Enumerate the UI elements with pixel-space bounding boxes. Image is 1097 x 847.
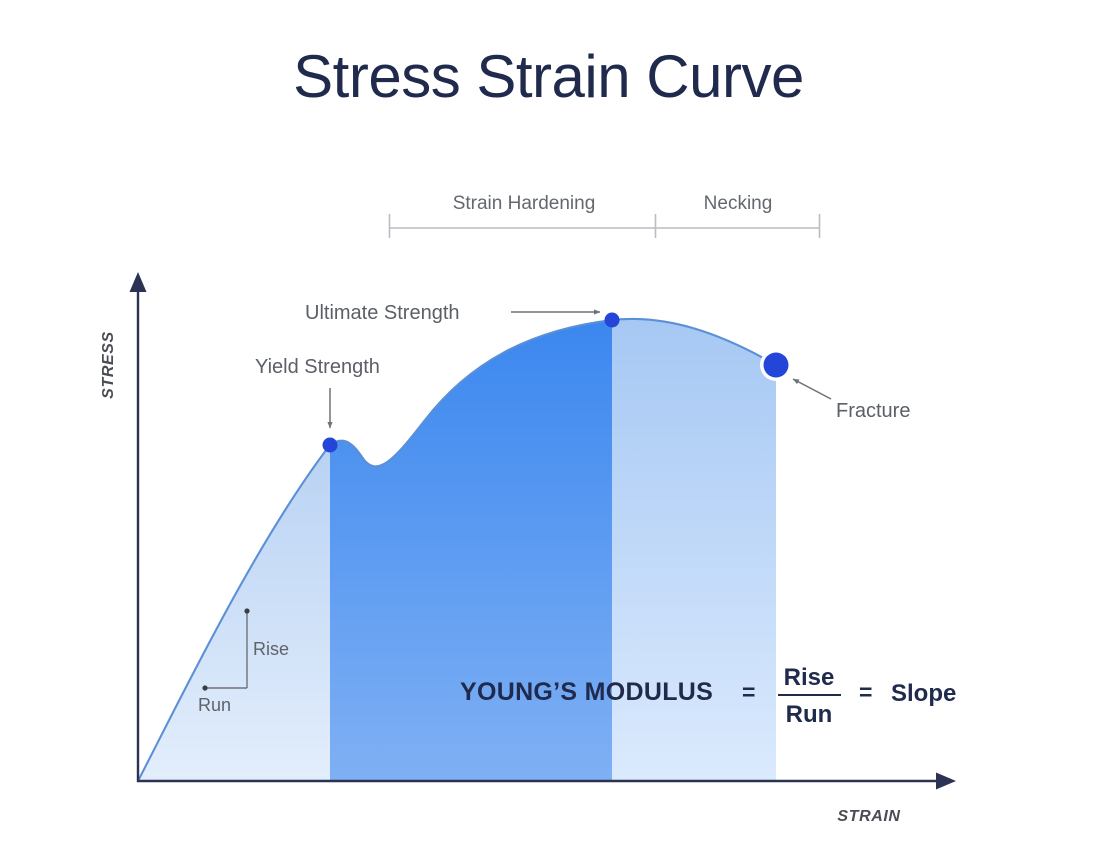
rise-top-point xyxy=(244,608,249,613)
formula-equals-first: = xyxy=(742,679,755,705)
formula-name: YOUNG’S MODULUS xyxy=(460,678,713,706)
run-left-point xyxy=(202,685,207,690)
fracture-label: Fracture xyxy=(836,400,910,422)
run-label: Run xyxy=(198,695,231,715)
x-axis-arrowhead xyxy=(936,773,956,790)
formula-equals-second: = xyxy=(859,679,872,705)
curve-fill-regions xyxy=(138,319,776,781)
annotation-ultimate-strength: Ultimate Strength xyxy=(305,302,600,324)
x-axis-label: STRAIN xyxy=(837,808,900,825)
region-label-strain-hardening: Strain Hardening xyxy=(453,193,596,214)
region-label-necking: Necking xyxy=(704,193,773,214)
ultimate-strength-marker[interactable] xyxy=(605,313,620,328)
fracture-leader-line xyxy=(793,379,831,399)
diagram-canvas: Stress Strain Curve xyxy=(0,0,1097,847)
stress-strain-figure: STRESS STRAIN Strain Hardening Necking U… xyxy=(0,0,1097,847)
ultimate-strength-label: Ultimate Strength xyxy=(305,302,460,324)
y-axis-label: STRESS xyxy=(100,331,117,399)
region-brackets: Strain Hardening Necking xyxy=(389,193,820,238)
formula-numerator: Rise xyxy=(784,664,835,691)
formula-denominator: Run xyxy=(786,701,833,728)
fracture-marker[interactable] xyxy=(764,353,789,378)
rise-label: Rise xyxy=(253,639,289,659)
y-axis-arrowhead xyxy=(130,272,147,292)
yield-strength-marker[interactable] xyxy=(323,438,338,453)
formula-result: Slope xyxy=(891,680,956,707)
yield-strength-label: Yield Strength xyxy=(255,356,380,378)
annotation-fracture: Fracture xyxy=(793,379,910,422)
annotation-yield-strength: Yield Strength xyxy=(255,356,380,428)
